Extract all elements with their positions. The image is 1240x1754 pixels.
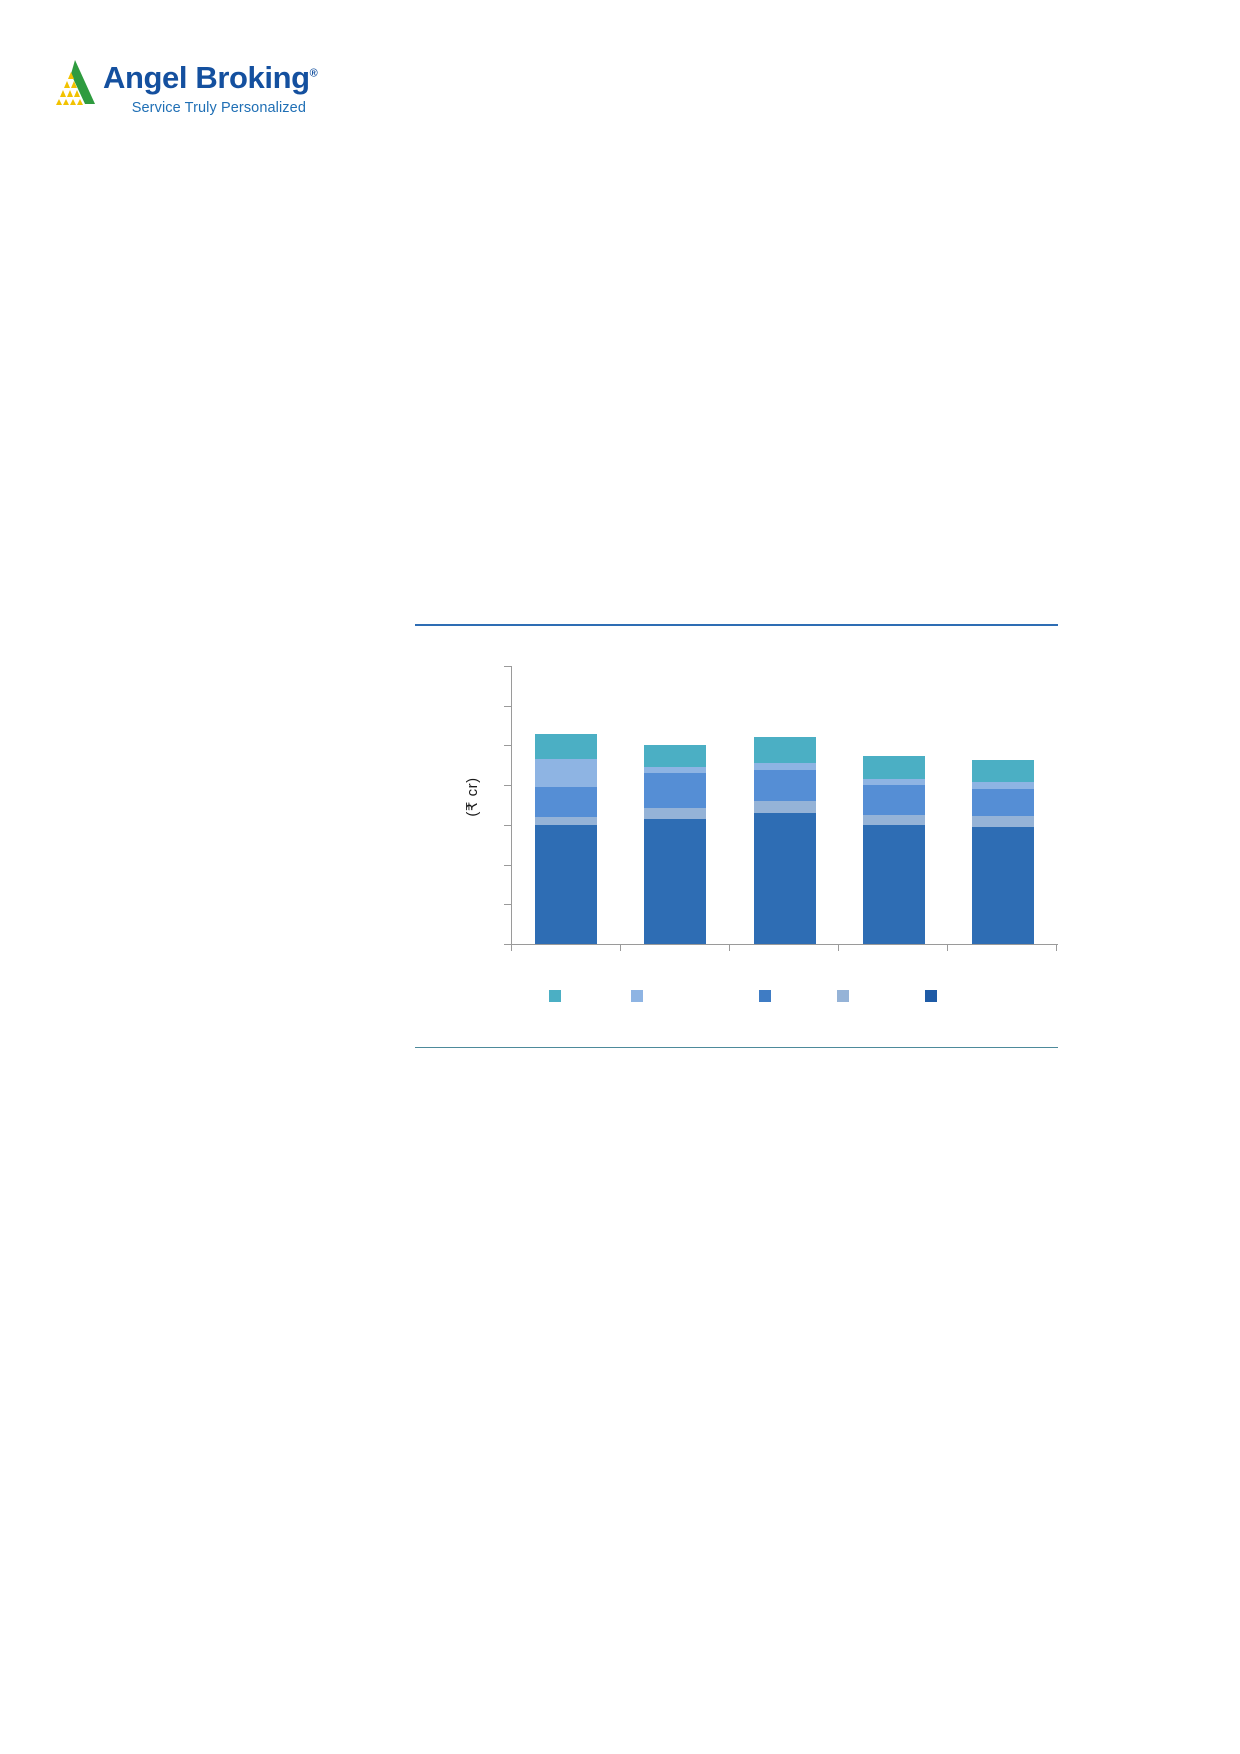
bar-segment-series-4-pale-blue [754,801,816,813]
bar-segment-series-2-light-blue [972,782,1034,789]
angel-triangle-logo-icon [45,58,97,106]
legend-swatch-series-3-medium-blue [759,990,771,1002]
stacked-bar [535,734,597,944]
chart-panel: (₹ cr) [415,624,1058,1048]
bar-segment-series-5-dark-blue [972,827,1034,944]
bar-segment-series-4-pale-blue [863,815,925,825]
brand-name: Angel Broking [103,60,310,95]
legend-swatch-series-1-teal [549,990,561,1002]
legend-item[interactable] [837,990,855,1002]
stacked-bar [972,760,1034,944]
x-axis-tick [1056,944,1057,951]
bar-segment-series-3-medium-blue [535,787,597,817]
y-axis-title: (₹ cr) [463,752,481,842]
bar-segment-series-2-light-blue [535,759,597,787]
brand-tagline: Service Truly Personalized [121,100,306,116]
legend-item[interactable] [631,990,649,1002]
legend-item[interactable] [549,990,567,1002]
bar-segment-series-4-pale-blue [644,808,706,819]
bar-series-group [511,666,1058,944]
x-axis-tick [511,944,512,951]
x-axis-tick [838,944,839,951]
bar-segment-series-5-dark-blue [754,813,816,944]
bar-segment-series-2-light-blue [754,763,816,770]
bar-segment-series-1-teal [863,756,925,779]
legend-swatch-series-4-pale-blue [837,990,849,1002]
y-axis-tick [504,706,511,707]
chart-legend [511,990,1058,1012]
chart-plot-area: (₹ cr) [415,638,1058,948]
bar-segment-series-1-teal [535,734,597,760]
legend-swatch-series-2-light-blue [631,990,643,1002]
legend-item[interactable] [759,990,777,1002]
bar-segment-series-1-teal [972,760,1034,782]
bar-segment-series-3-medium-blue [972,789,1034,816]
legend-item[interactable] [925,990,943,1002]
legend-swatch-series-5-dark-blue [925,990,937,1002]
brand-logo: Angel Broking® Service Truly Personalize… [45,56,305,126]
x-axis-tick [620,944,621,951]
y-axis-tick [504,944,511,945]
panel-top-divider [415,624,1058,626]
bar-segment-series-4-pale-blue [972,816,1034,827]
x-axis-tick [729,944,730,951]
bar-segment-series-3-medium-blue [754,770,816,801]
stacked-bar [644,745,706,944]
bar-segment-series-3-medium-blue [863,785,925,815]
y-axis-tick [504,904,511,905]
stacked-bar [863,756,925,944]
y-axis-tick [504,785,511,786]
bar-segment-series-4-pale-blue [535,817,597,825]
y-axis-tick [504,666,511,667]
y-axis-tick [504,825,511,826]
bar-segment-series-5-dark-blue [644,819,706,944]
y-axis-tick [504,865,511,866]
y-axis-tick [504,745,511,746]
panel-bottom-divider [415,1047,1058,1048]
registered-trademark-icon: ® [310,68,318,80]
stacked-bar [754,737,816,944]
bar-segment-series-1-teal [754,737,816,764]
bar-segment-series-3-medium-blue [644,773,706,808]
bar-segment-series-5-dark-blue [535,825,597,944]
x-axis-tick [947,944,948,951]
bar-segment-series-1-teal [644,745,706,767]
bar-segment-series-5-dark-blue [863,825,925,944]
brand-wordmark: Angel Broking® [103,62,317,93]
x-axis-line [511,944,1058,945]
